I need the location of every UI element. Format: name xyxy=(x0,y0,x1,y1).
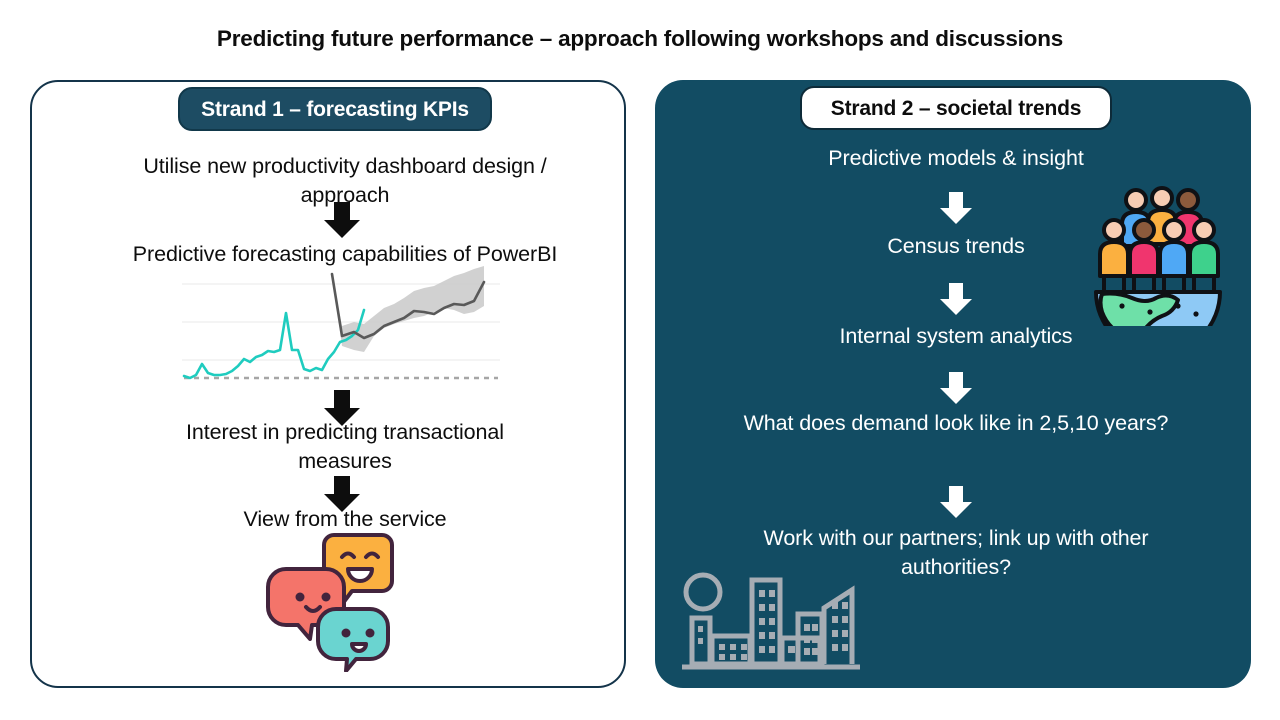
strand1-step-2-text: Predictive forecasting capabilities of P… xyxy=(130,240,560,269)
strand1-step-3-text: Interest in predicting transactional mea… xyxy=(140,418,550,476)
panel-strand-1-header: Strand 1 – forecasting KPIs xyxy=(178,87,492,131)
strand2-step-4-text: What does demand look like in 2,5,10 yea… xyxy=(740,409,1172,438)
strand1-arrow-1-icon xyxy=(320,200,364,240)
strand2-arrow-4-icon xyxy=(936,484,976,520)
speech-bubbles-icon xyxy=(264,527,404,672)
strand2-step-3-text: Internal system analytics xyxy=(746,322,1166,351)
panel-strand-2-header: Strand 2 – societal trends xyxy=(800,86,1112,130)
page-title: Predicting future performance – approach… xyxy=(0,26,1280,52)
strand2-arrow-1-icon xyxy=(936,190,976,226)
globe-with-people-icon xyxy=(1092,180,1224,326)
strand2-step-1-text: Predictive models & insight xyxy=(746,144,1166,173)
forecast-chart xyxy=(182,266,500,386)
strand2-arrow-2-icon xyxy=(936,281,976,317)
strand2-arrow-3-icon xyxy=(936,370,976,406)
city-skyline-icon xyxy=(680,568,862,674)
